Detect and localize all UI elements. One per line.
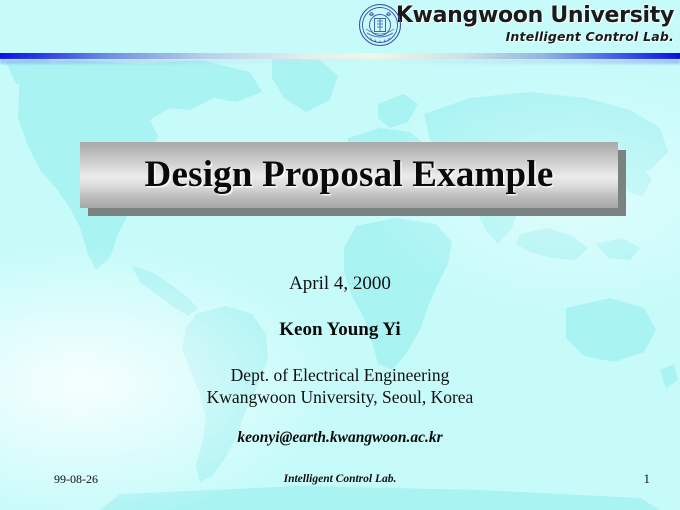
university-logo: Kwangwoon University Intelligent Control… xyxy=(358,2,674,50)
affiliation-department: Dept. of Electrical Engineering xyxy=(0,364,680,386)
university-seal-icon xyxy=(358,3,402,47)
author-name: Keon Young Yi xyxy=(0,318,680,342)
university-name: Kwangwoon University xyxy=(396,4,674,28)
lab-name: Intelligent Control Lab. xyxy=(506,29,674,44)
header-band: Kwangwoon University Intelligent Control… xyxy=(0,0,680,52)
logo-text-block: Kwangwoon University Intelligent Control… xyxy=(396,2,674,44)
title-banner: Design Proposal Example xyxy=(80,142,618,208)
slide-title: Design Proposal Example xyxy=(145,155,554,195)
header-divider-glow xyxy=(0,59,680,64)
affiliation-university: Kwangwoon University, Seoul, Korea xyxy=(0,386,680,408)
footer-lab-name: Intelligent Control Lab. xyxy=(0,470,680,488)
presentation-date: April 4, 2000 xyxy=(0,272,680,296)
presentation-slide: Kwangwoon University Intelligent Control… xyxy=(0,0,680,510)
author-email: keonyi@earth.kwangwoon.ac.kr xyxy=(0,428,680,448)
title-slide-body: April 4, 2000 Keon Young Yi Dept. of Ele… xyxy=(0,272,680,448)
slide-footer: 99-08-26 Intelligent Control Lab. 1 xyxy=(0,470,680,488)
footer-page-number: 1 xyxy=(644,470,651,488)
